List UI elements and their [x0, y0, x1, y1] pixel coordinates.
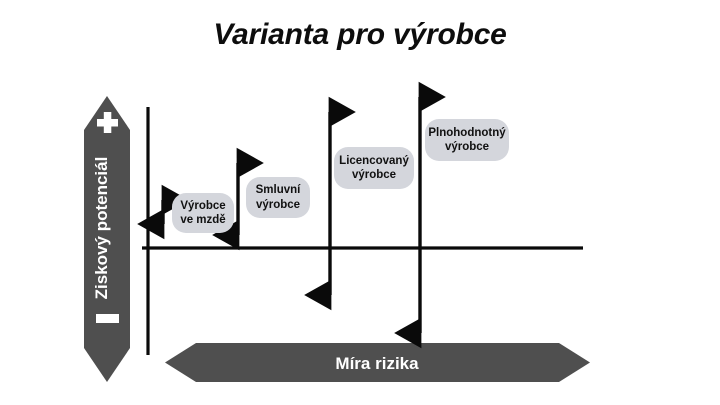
pill-line-2: ve mzdě	[180, 214, 225, 226]
label-pill-licencovany-vyrobce: Licencovaný výrobce	[334, 147, 414, 189]
minus-sign-icon	[96, 314, 119, 323]
pill-line-2: výrobce	[256, 199, 300, 211]
pill-line-1: Výrobce	[180, 200, 225, 212]
vertical-axis-label: Ziskový potenciál	[92, 157, 111, 300]
pill-line-1: Licencovaný	[339, 155, 409, 167]
diagram-canvas: Varianta pro výrobce Ziskový potenciál M…	[0, 0, 720, 405]
pill-line-1: Smluvní	[256, 184, 301, 196]
label-pill-plnohodnotny-vyrobce: Plnohodnotný výrobce	[425, 119, 509, 161]
vertical-axis-banner: Ziskový potenciál	[84, 96, 130, 382]
horizontal-axis-label: Míra rizika	[335, 354, 419, 373]
horizontal-axis-banner: Míra rizika	[165, 343, 590, 382]
label-pill-smluvni-vyrobce: Smluvní výrobce	[246, 177, 310, 218]
pill-line-2: výrobce	[445, 141, 489, 153]
pill-line-2: výrobce	[352, 169, 396, 181]
label-pill-vyrobce-ve-mzde: Výrobce ve mzdě	[172, 193, 234, 233]
pill-line-1: Plnohodnotný	[428, 127, 505, 139]
diagram-graphics: Ziskový potenciál Míra rizika	[0, 0, 720, 405]
